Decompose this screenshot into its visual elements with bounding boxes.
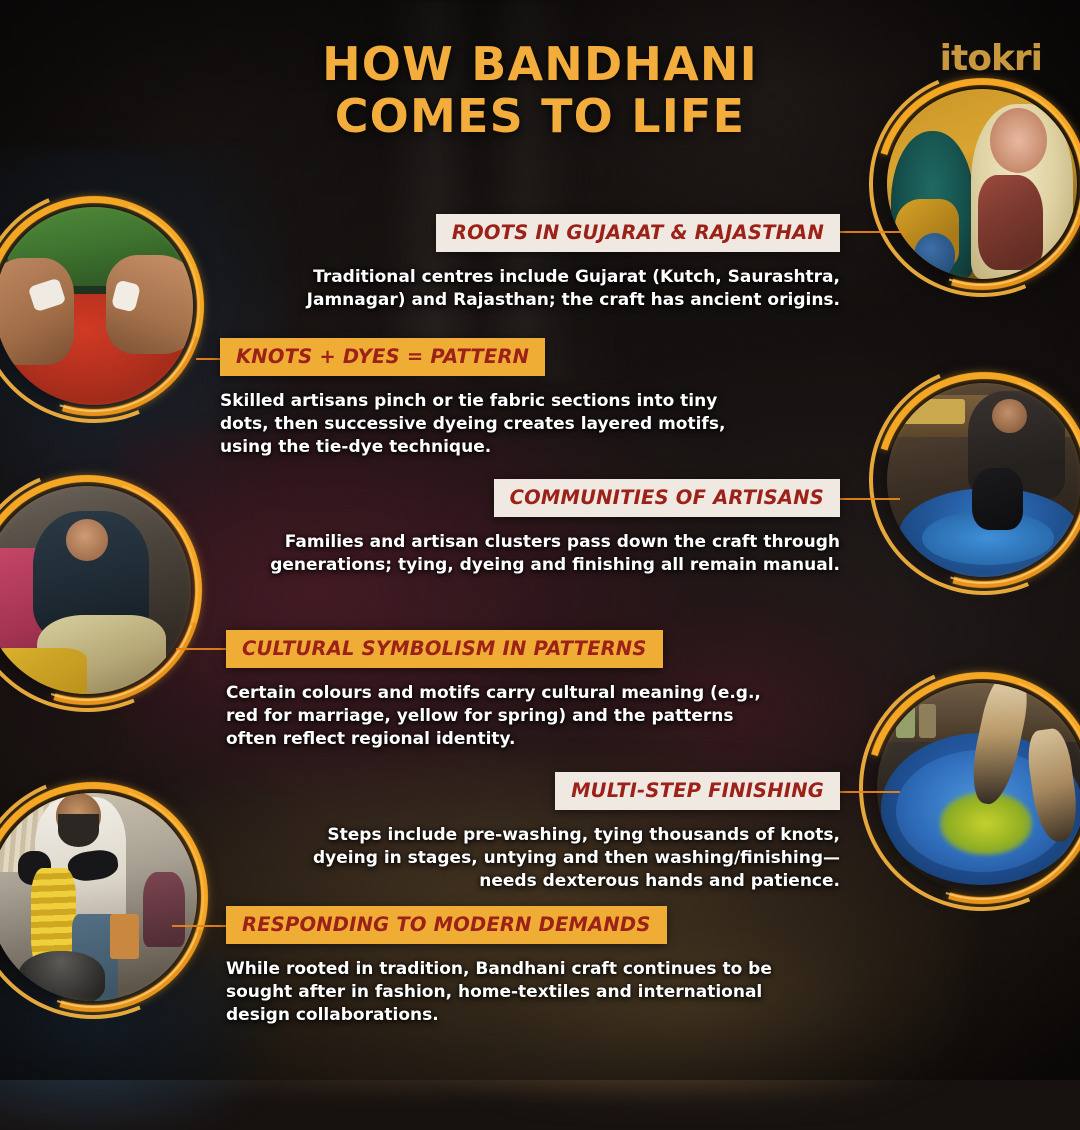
section-communities-body: Families and artisan clusters pass down … (240, 531, 840, 577)
page-title-line-1: HOW BANDHANI (0, 38, 1080, 90)
photo-hands-tying-red-fabric-image (0, 207, 193, 405)
section-knots: KNOTS + DYES = PATTERN Skilled artisans … (220, 338, 750, 459)
section-symbolism-header: CULTURAL SYMBOLISM IN PATTERNS (226, 630, 663, 668)
section-roots: ROOTS IN GUJARAT & RAJASTHAN Traditional… (272, 214, 840, 312)
photo-dyer-at-blue-tub-image (887, 383, 1080, 577)
photo-woman-seated-tying-disc (0, 486, 191, 694)
section-communities: COMMUNITIES OF ARTISANS Families and art… (240, 479, 840, 577)
section-finishing: MULTI-STEP FINISHING Steps include pre-w… (300, 772, 840, 893)
section-roots-header: ROOTS IN GUJARAT & RAJASTHAN (436, 214, 840, 252)
page-title-line-2: COMES TO LIFE (0, 90, 1080, 142)
photo-dyer-lifting-yellow-skein-image (0, 793, 197, 1001)
brand-logo-text: itokri (940, 41, 1042, 77)
connector-line-finishing (838, 791, 900, 793)
photo-blue-dye-vat (866, 672, 1080, 904)
section-symbolism: CULTURAL SYMBOLISM IN PATTERNS Certain c… (226, 630, 771, 751)
section-symbolism-body: Certain colours and motifs carry cultura… (226, 682, 771, 751)
photo-hands-tying-red-fabric-disc (0, 207, 193, 405)
connector-line-communities (838, 498, 900, 500)
section-modern: RESPONDING TO MODERN DEMANDS While roote… (226, 906, 786, 1027)
section-modern-header: RESPONDING TO MODERN DEMANDS (226, 906, 667, 944)
photo-dyer-at-blue-tub-disc (887, 383, 1080, 577)
photo-hands-tying-red-fabric (0, 196, 204, 416)
section-finishing-header: MULTI-STEP FINISHING (555, 772, 840, 810)
section-finishing-body: Steps include pre-washing, tying thousan… (300, 824, 840, 893)
photo-dyer-lifting-yellow-skein-disc (0, 793, 197, 1001)
section-roots-body: Traditional centres include Gujarat (Kut… (272, 266, 840, 312)
section-modern-body: While rooted in tradition, Bandhani craf… (226, 958, 786, 1027)
connector-line-modern (172, 925, 234, 927)
section-knots-header: KNOTS + DYES = PATTERN (220, 338, 545, 376)
section-communities-header: COMMUNITIES OF ARTISANS (494, 479, 840, 517)
connector-line-roots (836, 231, 906, 233)
photo-woman-seated-tying (0, 475, 202, 705)
photo-dyer-at-blue-tub (876, 372, 1080, 588)
photo-woman-seated-tying-image (0, 486, 191, 694)
photo-blue-dye-vat-image (877, 683, 1080, 893)
photo-blue-dye-vat-disc (877, 683, 1080, 893)
photo-dyer-lifting-yellow-skein (0, 782, 208, 1012)
brand-logo[interactable]: itokri (930, 36, 1042, 82)
page-title: HOW BANDHANI COMES TO LIFE (0, 38, 1080, 143)
section-knots-body: Skilled artisans pinch or tie fabric sec… (220, 390, 750, 459)
